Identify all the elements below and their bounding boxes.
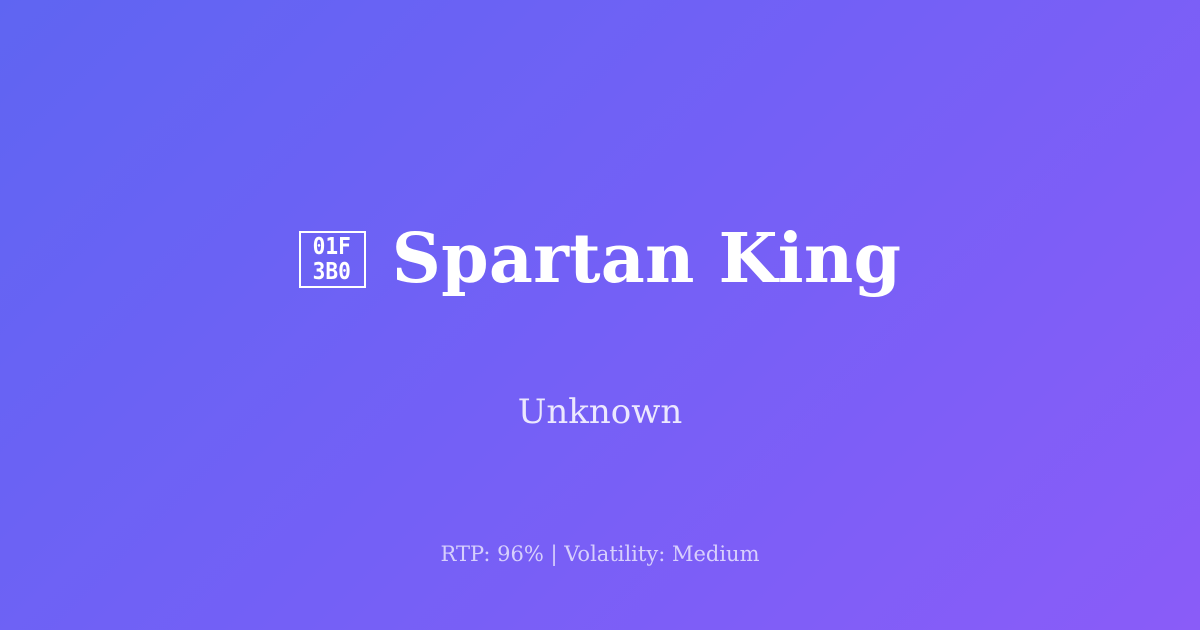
game-share-card: 01F 3B0 Spartan King Unknown RTP: 96% | … <box>0 0 1200 630</box>
title-row: 01F 3B0 Spartan King <box>299 171 901 346</box>
game-title: Spartan King <box>392 217 901 301</box>
tofu-codepoint-top: 01F <box>313 235 351 260</box>
game-stats-footer: RTP: 96% | Volatility: Medium <box>0 540 1200 568</box>
tofu-codepoint-bottom: 3B0 <box>313 260 351 285</box>
game-provider-subtitle: Unknown <box>518 391 683 433</box>
slot-machine-emoji-icon: 01F 3B0 <box>299 231 366 288</box>
